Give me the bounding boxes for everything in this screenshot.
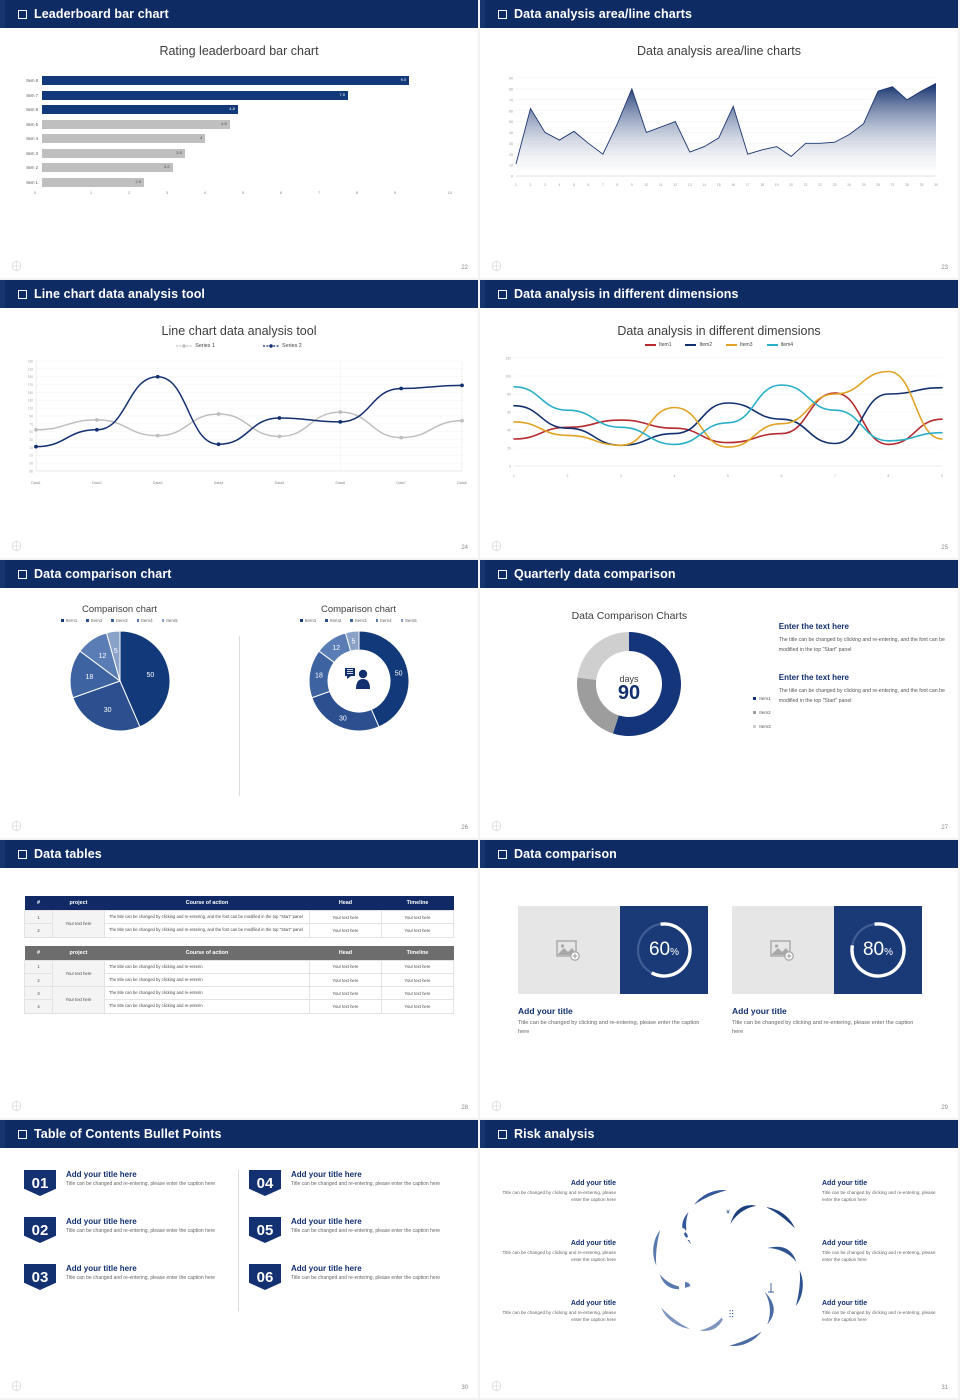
slide-header: Table of Contents Bullet Points bbox=[0, 1120, 478, 1148]
svg-text:10: 10 bbox=[509, 164, 513, 168]
card-title: Add your title bbox=[732, 1006, 922, 1016]
toc-item-desc: Title can be changed and re-entering, pl… bbox=[291, 1275, 440, 1283]
svg-text:80: 80 bbox=[509, 87, 513, 91]
svg-text:Data6: Data6 bbox=[335, 481, 345, 485]
svg-text:100: 100 bbox=[505, 375, 511, 379]
svg-text:18: 18 bbox=[85, 674, 93, 681]
bar-label: Item 7 bbox=[12, 93, 42, 98]
square-bullet-icon bbox=[18, 290, 27, 299]
bar-label: Item 1 bbox=[12, 180, 42, 185]
bar-chart-x-axis: 012345678910 bbox=[0, 190, 478, 195]
toc-column-left: 01Add your title hereTitle can be change… bbox=[14, 1170, 239, 1311]
people-icon bbox=[722, 1308, 734, 1319]
cell-index: 4 bbox=[25, 1000, 53, 1013]
x-tick: 2 bbox=[110, 190, 148, 195]
svg-text:18: 18 bbox=[760, 183, 764, 187]
svg-text:11: 11 bbox=[659, 183, 663, 187]
slide-header-title: Quarterly data comparison bbox=[514, 567, 676, 581]
legend-swatch bbox=[753, 725, 756, 728]
toc-item-title: Add your title here bbox=[66, 1217, 215, 1226]
cell-timeline: Your text here bbox=[382, 960, 454, 973]
x-tick: 10 bbox=[414, 190, 452, 195]
toc-item-title: Add your title here bbox=[291, 1264, 440, 1273]
bar-track: 3.2 bbox=[42, 163, 450, 172]
legend-swatch bbox=[111, 619, 114, 622]
toc-item-title: Add your title here bbox=[291, 1217, 440, 1226]
cell-timeline: Your text here bbox=[382, 911, 454, 924]
slide-header: Data analysis area/line charts bbox=[480, 0, 958, 28]
progress-ring-60: 60% bbox=[620, 906, 708, 994]
x-tick: 6 bbox=[262, 190, 300, 195]
svg-text:90: 90 bbox=[509, 77, 513, 81]
cell-index: 1 bbox=[25, 960, 53, 973]
image-placeholder[interactable] bbox=[518, 906, 620, 994]
add-image-icon bbox=[556, 939, 582, 961]
legend-label: Item2 bbox=[330, 618, 342, 623]
cell-course-of-action: The title can be changed by clicking and… bbox=[105, 987, 310, 1000]
svg-text:30: 30 bbox=[103, 707, 111, 714]
legend-label: Item1 bbox=[66, 618, 78, 623]
legend-swatch bbox=[685, 344, 696, 346]
legend-label: Item2 bbox=[699, 342, 712, 348]
legend-item: Item3 bbox=[350, 618, 366, 623]
risk-item-desc: Title can be changed by clicking and re-… bbox=[498, 1249, 616, 1264]
x-tick: 9 bbox=[376, 190, 414, 195]
table-row: 3Your text hereThe title can be changed … bbox=[25, 987, 454, 1000]
svg-text:3: 3 bbox=[544, 183, 546, 187]
bar-label: Item 8 bbox=[12, 78, 42, 83]
svg-text:22: 22 bbox=[818, 183, 822, 187]
legend-item: Item3 bbox=[726, 342, 753, 348]
svg-text:2: 2 bbox=[567, 474, 569, 478]
pie-chart-title: Comparison chart bbox=[0, 604, 239, 615]
donut-gauge-legend: Item1Item2Item3 bbox=[753, 696, 771, 738]
square-bullet-icon bbox=[18, 570, 27, 579]
slide-toc-bullet-points: Table of Contents Bullet Points 01Add yo… bbox=[0, 1120, 480, 1400]
table-column-header: Timeline bbox=[382, 946, 454, 961]
bar-chart-row: Item 54.6 bbox=[12, 118, 450, 131]
x-tick: 0 bbox=[34, 190, 72, 195]
bar-chart-row: Item 64.8 bbox=[12, 103, 450, 116]
svg-text:20: 20 bbox=[509, 153, 513, 157]
toc-item-desc: Title can be changed and re-entering, pl… bbox=[291, 1181, 440, 1189]
cell-head: Your text here bbox=[310, 973, 382, 986]
toc-number-badge: 01 bbox=[24, 1170, 56, 1196]
svg-text:1: 1 bbox=[515, 183, 517, 187]
svg-text:25: 25 bbox=[862, 183, 866, 187]
ring-pct-symbol: % bbox=[670, 947, 679, 958]
legend-label: Item5 bbox=[405, 618, 417, 623]
svg-text:60: 60 bbox=[509, 109, 513, 113]
cell-project: Your text here bbox=[53, 911, 105, 938]
slide-header-title: Data analysis area/line charts bbox=[514, 7, 692, 21]
square-bullet-icon bbox=[18, 10, 27, 19]
slide-header-title: Data comparison chart bbox=[34, 567, 172, 581]
table-column-header: Head bbox=[310, 896, 382, 911]
svg-text:70: 70 bbox=[509, 98, 513, 102]
svg-text:6: 6 bbox=[587, 183, 589, 187]
legend-label: Item2 bbox=[91, 618, 103, 623]
toc-item[interactable]: 04Add your title hereTitle can be change… bbox=[249, 1170, 454, 1196]
x-tick: 1 bbox=[72, 190, 110, 195]
svg-text:30: 30 bbox=[509, 142, 513, 146]
risk-item-title: Add your title bbox=[822, 1240, 940, 1247]
toc-item[interactable]: 03Add your title hereTitle can be change… bbox=[24, 1264, 228, 1290]
risk-cycle-diagram: ¥ bbox=[638, 1176, 818, 1356]
svg-text:9: 9 bbox=[941, 474, 943, 478]
legend-item: Item4 bbox=[376, 618, 392, 623]
logo-icon bbox=[10, 1379, 23, 1393]
legend-swatch bbox=[61, 619, 64, 622]
legend-swatch bbox=[726, 344, 737, 346]
legend-label: Item4 bbox=[141, 618, 153, 623]
svg-text:2: 2 bbox=[530, 183, 532, 187]
bar-label: Item 4 bbox=[12, 136, 42, 141]
legend-label: Item1 bbox=[759, 696, 771, 701]
legend-item: Item2 bbox=[325, 618, 341, 623]
risk-item-title: Add your title bbox=[822, 1300, 940, 1307]
cell-timeline: Your text here bbox=[382, 987, 454, 1000]
logo-icon bbox=[490, 1379, 503, 1393]
bar-track: 9.0 bbox=[42, 76, 450, 85]
donut-chart-panel: Comparison chart Item1Item2Item3Item4Ite… bbox=[239, 604, 478, 735]
cell-course-of-action: The title can be changed by clicking and… bbox=[105, 911, 310, 924]
page-number: 31 bbox=[941, 1385, 948, 1391]
svg-text:30: 30 bbox=[29, 438, 33, 442]
svg-text:Data7: Data7 bbox=[396, 481, 406, 485]
legend-swatch bbox=[300, 619, 303, 622]
cell-index: 3 bbox=[25, 987, 53, 1000]
money-bag-icon: ¥ bbox=[723, 1205, 733, 1221]
svg-text:12: 12 bbox=[673, 183, 677, 187]
svg-text:7: 7 bbox=[602, 183, 604, 187]
svg-text:90: 90 bbox=[618, 682, 640, 704]
page-number: 25 bbox=[941, 545, 948, 551]
logo-icon bbox=[10, 1099, 23, 1113]
slide-header-title: Leaderboard bar chart bbox=[34, 7, 169, 21]
page-number: 27 bbox=[941, 825, 948, 831]
svg-text:19: 19 bbox=[775, 183, 779, 187]
bar-label: Item 6 bbox=[12, 107, 42, 112]
square-bullet-icon bbox=[18, 1130, 27, 1139]
card-title: Add your title bbox=[518, 1006, 708, 1016]
cell-course-of-action: The title can be changed by clicking and… bbox=[105, 960, 310, 973]
svg-text:40: 40 bbox=[507, 429, 511, 433]
legend-item: Item2 bbox=[685, 342, 712, 348]
building-icon bbox=[679, 1282, 691, 1294]
bar-chart-row: Item 33.5 bbox=[12, 147, 450, 160]
legend-label: Item3 bbox=[759, 724, 771, 729]
legend-item: Item2 bbox=[753, 710, 771, 715]
vertical-divider bbox=[239, 636, 240, 796]
legend-marker bbox=[263, 343, 279, 349]
bar-track: 4.6 bbox=[42, 120, 450, 129]
svg-text:6: 6 bbox=[781, 474, 783, 478]
bar-value: 4.6 bbox=[221, 121, 227, 126]
bar-value: 4.8 bbox=[229, 106, 235, 111]
donut-chart: 503018125 bbox=[239, 627, 478, 735]
legend-item: Item1 bbox=[753, 696, 771, 701]
page-number: 30 bbox=[461, 1385, 468, 1391]
slide-header: Data comparison chart bbox=[0, 560, 478, 588]
legend-swatch bbox=[401, 619, 404, 622]
toc-number-badge: 06 bbox=[249, 1264, 281, 1290]
legend-item: Item5 bbox=[162, 618, 178, 623]
slide-header: Leaderboard bar chart bbox=[0, 0, 478, 28]
slide-body: Line chart data analysis tool Series 1Se… bbox=[0, 308, 478, 560]
cell-timeline: Your text here bbox=[382, 1000, 454, 1013]
svg-text:Data8: Data8 bbox=[457, 481, 467, 485]
toc-item[interactable]: 01Add your title hereTitle can be change… bbox=[24, 1170, 228, 1196]
svg-text:15: 15 bbox=[717, 183, 721, 187]
cell-head: Your text here bbox=[310, 911, 382, 924]
svg-text:10: 10 bbox=[29, 446, 33, 450]
svg-text:60: 60 bbox=[507, 411, 511, 415]
slide-body: 60% Add your title Title can be changed … bbox=[480, 868, 958, 1120]
progress-ring-value: 80% bbox=[863, 939, 893, 961]
svg-text:7: 7 bbox=[834, 474, 836, 478]
page-number: 24 bbox=[461, 545, 468, 551]
svg-text:130: 130 bbox=[28, 399, 34, 403]
legend-item: Item1 bbox=[61, 618, 77, 623]
donut-gauge-title: Data Comparison Charts bbox=[480, 598, 779, 622]
square-bullet-icon bbox=[498, 570, 507, 579]
svg-text:40: 40 bbox=[509, 131, 513, 135]
logo-icon bbox=[490, 539, 503, 553]
cell-project: Your text here bbox=[53, 987, 105, 1014]
risk-item-title: Add your title bbox=[822, 1180, 940, 1187]
legend-swatch bbox=[86, 619, 89, 622]
donut-gauge: days90 bbox=[480, 628, 779, 740]
legend-swatch bbox=[137, 619, 140, 622]
svg-text:Data2: Data2 bbox=[92, 481, 102, 485]
cell-index: 2 bbox=[25, 973, 53, 986]
slide-header: Risk analysis bbox=[480, 1120, 958, 1148]
logo-icon bbox=[10, 259, 23, 273]
bar: 7.5 bbox=[42, 91, 348, 100]
chart-title: Data analysis area/line charts bbox=[480, 28, 958, 58]
toc-item[interactable]: 02Add your title hereTitle can be change… bbox=[24, 1217, 228, 1243]
table-column-header: Head bbox=[310, 946, 382, 961]
legend-swatch bbox=[325, 619, 328, 622]
svg-text:50: 50 bbox=[146, 672, 154, 679]
slide-body: 01Add your title hereTitle can be change… bbox=[0, 1148, 478, 1400]
svg-text:190: 190 bbox=[28, 375, 34, 379]
bar: 4.6 bbox=[42, 120, 230, 129]
slide-header-title: Table of Contents Bullet Points bbox=[34, 1127, 222, 1141]
svg-text:Data4: Data4 bbox=[214, 481, 224, 485]
svg-text:50: 50 bbox=[509, 120, 513, 124]
legend-item: Item3 bbox=[111, 618, 127, 623]
square-bullet-icon bbox=[498, 850, 507, 859]
text-block-title: Enter the text here bbox=[779, 622, 958, 631]
svg-text:18: 18 bbox=[315, 672, 323, 679]
slide-line-chart-tool: Line chart data analysis tool Line chart… bbox=[0, 280, 480, 560]
slide-header: Data analysis in different dimensions bbox=[480, 280, 958, 308]
slide-body: Data Comparison Charts days90 Item1Item2… bbox=[480, 588, 958, 840]
bar-value: 3.2 bbox=[164, 164, 170, 169]
legend-label: Item1 bbox=[659, 342, 672, 348]
svg-text:14: 14 bbox=[702, 183, 706, 187]
bar-chart-row: Item 44 bbox=[12, 132, 450, 145]
bar-track: 4.8 bbox=[42, 105, 450, 114]
risk-item: Add your title Title can be changed by c… bbox=[498, 1240, 616, 1264]
table-column-header: Timeline bbox=[382, 896, 454, 911]
bar-value: 4 bbox=[200, 135, 202, 140]
bar: 4.8 bbox=[42, 105, 238, 114]
bar: 4 bbox=[42, 134, 205, 143]
logo-icon bbox=[10, 819, 23, 833]
svg-text:30: 30 bbox=[934, 183, 938, 187]
chart-title: Data analysis in different dimensions bbox=[480, 308, 958, 338]
svg-text:13: 13 bbox=[688, 183, 692, 187]
toc-item-title: Add your title here bbox=[291, 1170, 440, 1179]
svg-text:20: 20 bbox=[789, 183, 793, 187]
legend-item: Series 1 bbox=[176, 343, 215, 349]
risk-item: Add your title Title can be changed by c… bbox=[498, 1180, 616, 1204]
svg-text:3: 3 bbox=[620, 474, 622, 478]
table-row: 1Your text hereThe title can be changed … bbox=[25, 960, 454, 973]
slide-header-title: Risk analysis bbox=[514, 1127, 595, 1141]
svg-text:80: 80 bbox=[507, 393, 511, 397]
slide-body: Data analysis area/line charts 010203040… bbox=[480, 28, 958, 280]
x-tick: 5 bbox=[224, 190, 262, 195]
svg-text:9: 9 bbox=[631, 183, 633, 187]
text-block: Enter the text here The title can be cha… bbox=[779, 622, 958, 655]
svg-text:10: 10 bbox=[644, 183, 648, 187]
page-number: 26 bbox=[461, 825, 468, 831]
toc-item-desc: Title can be changed and re-entering, pl… bbox=[66, 1275, 215, 1283]
legend-label: Item3 bbox=[116, 618, 128, 623]
svg-text:5: 5 bbox=[573, 183, 575, 187]
page-number: 22 bbox=[461, 265, 468, 271]
cell-course-of-action: The title can be changed by clicking and… bbox=[105, 973, 310, 986]
table-column-header: project bbox=[53, 896, 105, 911]
slide-header-title: Data comparison bbox=[514, 847, 617, 861]
chart-title: Line chart data analysis tool bbox=[0, 308, 478, 338]
risk-item: Add your title Title can be changed by c… bbox=[822, 1240, 940, 1264]
svg-text:27: 27 bbox=[891, 183, 895, 187]
table-header: #projectCourse of actionHeadTimeline bbox=[25, 896, 454, 911]
table-header: #projectCourse of actionHeadTimeline bbox=[25, 946, 454, 961]
legend-swatch bbox=[350, 619, 353, 622]
slide-body: Rating leaderboard bar chart Item 89.0It… bbox=[0, 28, 478, 280]
cell-course-of-action: The title can be changed by clicking and… bbox=[105, 1000, 310, 1013]
bar: 2.5 bbox=[42, 178, 144, 187]
svg-text:4: 4 bbox=[559, 183, 561, 187]
line-chart: 2302101901701501301109070503010-10-30-50… bbox=[0, 349, 478, 489]
svg-text:5: 5 bbox=[113, 648, 117, 655]
svg-text:8: 8 bbox=[616, 183, 618, 187]
slide-header-title: Data tables bbox=[34, 847, 102, 861]
slide-header-title: Data analysis in different dimensions bbox=[514, 287, 739, 301]
slide-risk-analysis: Risk analysis ¥ Add your title Title can… bbox=[480, 1120, 960, 1400]
cell-course-of-action: The title can be changed by clicking and… bbox=[105, 924, 310, 937]
risk-item-title: Add your title bbox=[498, 1180, 616, 1187]
slide-body: Data analysis in different dimensions It… bbox=[480, 308, 958, 560]
toc-item[interactable]: 06Add your title hereTitle can be change… bbox=[249, 1264, 454, 1290]
legend-label: Item1 bbox=[305, 618, 317, 623]
bar-value: 3.5 bbox=[176, 150, 182, 155]
legend-swatch bbox=[162, 619, 165, 622]
area-chart: 0102030405060708090123456789101112131415… bbox=[480, 58, 958, 190]
svg-text:8: 8 bbox=[888, 474, 890, 478]
slide-header: Data tables bbox=[0, 840, 478, 868]
legend-label: Item3 bbox=[740, 342, 753, 348]
text-block-title: Enter the text here bbox=[779, 673, 958, 682]
slide-header-title: Line chart data analysis tool bbox=[34, 287, 205, 301]
legend-label: Series 1 bbox=[195, 343, 215, 349]
risk-item: Add your title Title can be changed by c… bbox=[498, 1300, 616, 1324]
x-tick: 3 bbox=[148, 190, 186, 195]
legend-swatch bbox=[376, 619, 379, 622]
bar: 9.0 bbox=[42, 76, 409, 85]
risk-item: Add your title Title can be changed by c… bbox=[822, 1300, 940, 1324]
slide-body: ¥ Add your title Title can be changed by… bbox=[480, 1148, 958, 1400]
risk-item: Add your title Title can be changed by c… bbox=[822, 1180, 940, 1204]
svg-text:29: 29 bbox=[920, 183, 924, 187]
legend-item: Item5 bbox=[401, 618, 417, 623]
bar: 3.2 bbox=[42, 163, 173, 172]
bar-value: 2.5 bbox=[135, 179, 141, 184]
svg-text:16: 16 bbox=[731, 183, 735, 187]
svg-text:230: 230 bbox=[28, 359, 34, 363]
x-tick: 7 bbox=[300, 190, 338, 195]
comparison-card: 60% Add your title Title can be changed … bbox=[518, 906, 708, 1037]
pie-legend-right: Item1Item2Item3Item4Item5 bbox=[239, 618, 478, 623]
toc-item-desc: Title can be changed and re-entering, pl… bbox=[66, 1228, 215, 1236]
risk-item-title: Add your title bbox=[498, 1300, 616, 1307]
bar-label: Item 3 bbox=[12, 151, 42, 156]
svg-text:12: 12 bbox=[98, 653, 106, 660]
logo-icon bbox=[490, 819, 503, 833]
page-number: 23 bbox=[941, 265, 948, 271]
card-desc: Title can be changed by clicking and re-… bbox=[732, 1019, 922, 1037]
image-placeholder[interactable] bbox=[732, 906, 834, 994]
card-desc: Title can be changed by clicking and re-… bbox=[518, 1019, 708, 1037]
svg-text:110: 110 bbox=[28, 407, 33, 411]
svg-text:90: 90 bbox=[29, 414, 33, 418]
risk-item-desc: Title can be changed by clicking and re-… bbox=[498, 1309, 616, 1324]
svg-text:-50: -50 bbox=[28, 469, 33, 473]
yen-coin-icon bbox=[765, 1282, 778, 1295]
risk-item-title: Add your title bbox=[498, 1240, 616, 1247]
svg-text:23: 23 bbox=[833, 183, 837, 187]
table-column-header: Course of action bbox=[105, 946, 310, 961]
text-blocks-panel: Enter the text here The title can be cha… bbox=[779, 598, 958, 740]
legend-item: Item4 bbox=[767, 342, 794, 348]
risk-item-desc: Title can be changed by clicking and re-… bbox=[822, 1249, 940, 1264]
toc-item[interactable]: 05Add your title hereTitle can be change… bbox=[249, 1217, 454, 1243]
bar-track: 3.5 bbox=[42, 149, 450, 158]
svg-text:21: 21 bbox=[804, 183, 808, 187]
square-bullet-icon bbox=[498, 1130, 507, 1139]
pie-legend-left: Item1Item2Item3Item4Item5 bbox=[0, 618, 239, 623]
table-column-header: project bbox=[53, 946, 105, 961]
logo-icon bbox=[490, 1099, 503, 1113]
legend-item: Item1 bbox=[300, 618, 316, 623]
svg-text:26: 26 bbox=[876, 183, 880, 187]
square-bullet-icon bbox=[18, 850, 27, 859]
legend-swatch bbox=[645, 344, 656, 346]
svg-text:120: 120 bbox=[505, 357, 511, 361]
page-number: 29 bbox=[941, 1105, 948, 1111]
pie-chart-panel: Comparison chart Item1Item2Item3Item4Ite… bbox=[0, 604, 239, 735]
legend-swatch bbox=[753, 711, 756, 714]
cell-head: Your text here bbox=[310, 960, 382, 973]
toc-number-badge: 05 bbox=[249, 1217, 281, 1243]
svg-text:5: 5 bbox=[351, 638, 355, 645]
